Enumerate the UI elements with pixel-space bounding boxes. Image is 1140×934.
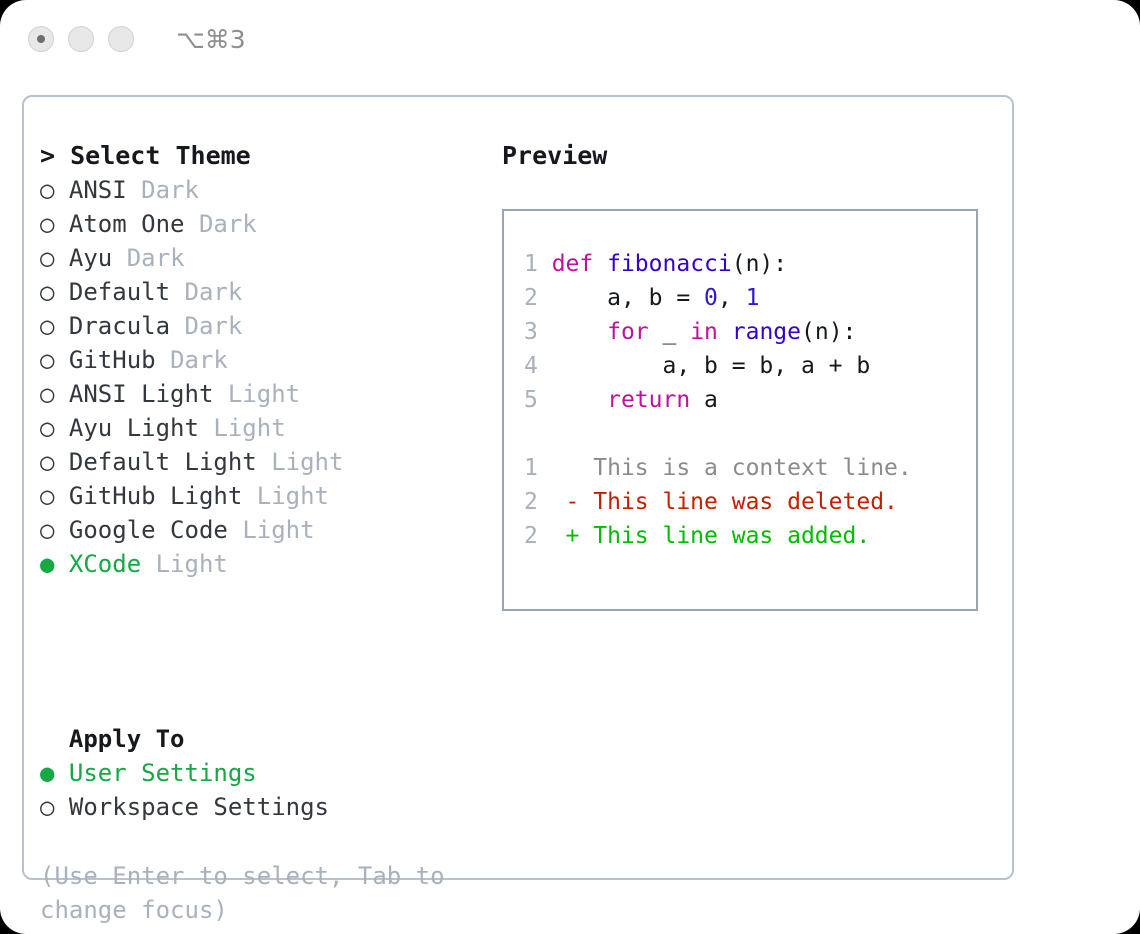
- theme-option-label: GitHub Light: [69, 482, 242, 510]
- theme-option-xcode[interactable]: ● XCode Light: [40, 547, 470, 581]
- line-number: 1: [524, 455, 552, 481]
- window-dot-active-icon[interactable]: [28, 26, 54, 52]
- theme-option-google-code[interactable]: ○ Google Code Light: [40, 513, 470, 547]
- theme-option-ansi[interactable]: ○ ANSI Dark: [40, 173, 470, 207]
- spacer: [185, 210, 199, 238]
- theme-variant-badge: Dark: [199, 210, 257, 238]
- theme-selector: > Select Theme ○ ANSI Dark○ Atom One Dar…: [40, 139, 470, 581]
- code-line: 3 for _ in range(n):: [524, 315, 976, 349]
- apply-to-option-label: Workspace Settings: [69, 793, 329, 821]
- theme-option-label: Ayu Light: [69, 414, 199, 442]
- radio-unselected-icon: ○: [40, 793, 54, 821]
- theme-variant-badge: Light: [228, 380, 300, 408]
- radio-unselected-icon: ○: [40, 278, 54, 306]
- theme-option-default-light[interactable]: ○ Default Light Light: [40, 445, 470, 479]
- spacer: [199, 414, 213, 442]
- spacer: [112, 244, 126, 272]
- code-line: 1 def fibonacci(n):: [524, 247, 976, 281]
- spacer: [54, 550, 68, 578]
- theme-option-label: Ayu: [69, 244, 112, 272]
- spacer: [54, 759, 68, 787]
- code-token: a, b = b, a + b: [552, 353, 871, 379]
- line-number: 3: [524, 319, 552, 345]
- spacer: [54, 516, 68, 544]
- preview-section: Preview 1 def fibonacci(n):2 a, b = 0, 1…: [502, 139, 992, 611]
- radio-unselected-icon: ○: [40, 380, 54, 408]
- code-token: in: [690, 319, 718, 345]
- apply-to-label-text: Apply To: [69, 725, 185, 753]
- theme-option-label: GitHub: [69, 346, 156, 374]
- code-token: 1: [746, 285, 760, 311]
- apply-to-option-label: User Settings: [69, 759, 257, 787]
- spacer: [127, 176, 141, 204]
- theme-option-default[interactable]: ○ Default Dark: [40, 275, 470, 309]
- line-number: 2: [524, 523, 552, 549]
- select-theme-heading: > Select Theme: [40, 139, 470, 173]
- window-dot-third-icon[interactable]: [108, 26, 134, 52]
- apply-to-section: Apply To ● User Settings○ Workspace Sett…: [40, 722, 470, 824]
- diff-line: 2 - This line was deleted.: [524, 485, 976, 519]
- code-line: 2 a, b = 0, 1: [524, 281, 976, 315]
- line-number: 4: [524, 353, 552, 379]
- radio-unselected-icon: ○: [40, 210, 54, 238]
- spacer: [156, 346, 170, 374]
- app-window: ⌥⌘3 > Select Theme ○ ANSI Dark○ Atom One…: [0, 0, 1140, 934]
- theme-variant-badge: Light: [242, 516, 314, 544]
- preview-title: Preview: [502, 139, 992, 173]
- theme-option-label: XCode: [69, 550, 141, 578]
- spacer: [54, 278, 68, 306]
- radio-unselected-icon: ○: [40, 312, 54, 340]
- code-token: [552, 387, 607, 413]
- keyboard-hint-text: (Use Enter to select, Tab to change focu…: [40, 859, 450, 927]
- theme-option-ansi-light[interactable]: ○ ANSI Light Light: [40, 377, 470, 411]
- radio-unselected-icon: ○: [40, 176, 54, 204]
- code-token: (n):: [801, 319, 856, 345]
- code-diff-spacer: [524, 417, 976, 451]
- code-token: (n):: [732, 251, 787, 277]
- theme-option-github[interactable]: ○ GitHub Dark: [40, 343, 470, 377]
- window-dot-second-icon[interactable]: [68, 26, 94, 52]
- window-dot-inner: [37, 35, 45, 43]
- spacer: [54, 414, 68, 442]
- spacer: [54, 176, 68, 204]
- line-number: 2: [524, 489, 552, 515]
- code-token: ,: [718, 285, 746, 311]
- radio-selected-icon: ●: [40, 550, 54, 578]
- spacer: [54, 448, 68, 476]
- spacer: [54, 346, 68, 374]
- code-token: a, b =: [552, 285, 704, 311]
- apply-to-list: ● User Settings○ Workspace Settings: [40, 756, 470, 824]
- theme-variant-badge: Light: [213, 414, 285, 442]
- preview-box: 1 def fibonacci(n):2 a, b = 0, 13 for _ …: [502, 209, 978, 611]
- spacer: [54, 210, 68, 238]
- spacer: [170, 278, 184, 306]
- radio-unselected-icon: ○: [40, 448, 54, 476]
- radio-unselected-icon: ○: [40, 346, 54, 374]
- spacer: [54, 482, 68, 510]
- theme-variant-badge: Dark: [127, 244, 185, 272]
- code-token: [593, 251, 607, 277]
- diff-marker: [552, 455, 594, 481]
- theme-list: ○ ANSI Dark○ Atom One Dark○ Ayu Dark○ De…: [40, 173, 470, 581]
- radio-unselected-icon: ○: [40, 244, 54, 272]
- diff-sample: 1 This is a context line.2 - This line w…: [524, 451, 976, 553]
- radio-unselected-icon: ○: [40, 414, 54, 442]
- code-token: fibonacci: [607, 251, 732, 277]
- spacer: [54, 793, 68, 821]
- diff-text: This line was added.: [593, 523, 870, 549]
- line-number: 5: [524, 387, 552, 413]
- main-panel: > Select Theme ○ ANSI Dark○ Atom One Dar…: [22, 95, 1014, 880]
- radio-unselected-icon: ○: [40, 482, 54, 510]
- spacer: [54, 244, 68, 272]
- theme-variant-badge: Light: [271, 448, 343, 476]
- code-token: for: [607, 319, 649, 345]
- apply-to-option-user-settings[interactable]: ● User Settings: [40, 756, 470, 790]
- theme-option-github-light[interactable]: ○ GitHub Light Light: [40, 479, 470, 513]
- diff-text: This line was deleted.: [593, 489, 898, 515]
- apply-to-option-workspace-settings[interactable]: ○ Workspace Settings: [40, 790, 470, 824]
- apply-to-label: Apply To: [40, 722, 470, 756]
- theme-option-ayu[interactable]: ○ Ayu Dark: [40, 241, 470, 275]
- spacer: [242, 482, 256, 510]
- diff-marker: +: [552, 523, 594, 549]
- spacer: [141, 550, 155, 578]
- theme-variant-badge: Light: [156, 550, 228, 578]
- theme-option-label: Default Light: [69, 448, 257, 476]
- code-token: def: [552, 251, 594, 277]
- theme-option-label: ANSI Light: [69, 380, 214, 408]
- theme-variant-badge: Dark: [185, 278, 243, 306]
- code-token: return: [607, 387, 690, 413]
- code-token: _: [649, 319, 691, 345]
- theme-variant-badge: Dark: [141, 176, 199, 204]
- line-number: 1: [524, 251, 552, 277]
- code-token: [552, 319, 607, 345]
- radio-selected-icon: ●: [40, 759, 54, 787]
- diff-line: 2 + This line was added.: [524, 519, 976, 553]
- code-token: range: [732, 319, 801, 345]
- code-line: 4 a, b = b, a + b: [524, 349, 976, 383]
- line-number: 2: [524, 285, 552, 311]
- spacer: [213, 380, 227, 408]
- radio-unselected-icon: ○: [40, 516, 54, 544]
- spacer: [170, 312, 184, 340]
- code-token: a: [690, 387, 718, 413]
- code-token: 0: [704, 285, 718, 311]
- code-line: 5 return a: [524, 383, 976, 417]
- spacer: [54, 380, 68, 408]
- spacer: [257, 448, 271, 476]
- code-token: [718, 319, 732, 345]
- theme-option-label: ANSI: [69, 176, 127, 204]
- theme-option-ayu-light[interactable]: ○ Ayu Light Light: [40, 411, 470, 445]
- spacer: [54, 312, 68, 340]
- keyboard-shortcut-label: ⌥⌘3: [176, 25, 246, 54]
- theme-variant-badge: Light: [257, 482, 329, 510]
- spacer: [228, 516, 242, 544]
- diff-text: This is a context line.: [593, 455, 912, 481]
- theme-variant-badge: Dark: [170, 346, 228, 374]
- theme-option-dracula[interactable]: ○ Dracula Dark: [40, 309, 470, 343]
- title-bar: ⌥⌘3: [0, 0, 1140, 78]
- theme-option-label: Google Code: [69, 516, 228, 544]
- diff-line: 1 This is a context line.: [524, 451, 976, 485]
- theme-variant-badge: Dark: [185, 312, 243, 340]
- theme-option-label: Default: [69, 278, 170, 306]
- theme-option-label: Dracula: [69, 312, 170, 340]
- theme-option-atom-one[interactable]: ○ Atom One Dark: [40, 207, 470, 241]
- diff-marker: -: [552, 489, 594, 515]
- theme-option-label: Atom One: [69, 210, 185, 238]
- code-sample: 1 def fibonacci(n):2 a, b = 0, 13 for _ …: [524, 247, 976, 417]
